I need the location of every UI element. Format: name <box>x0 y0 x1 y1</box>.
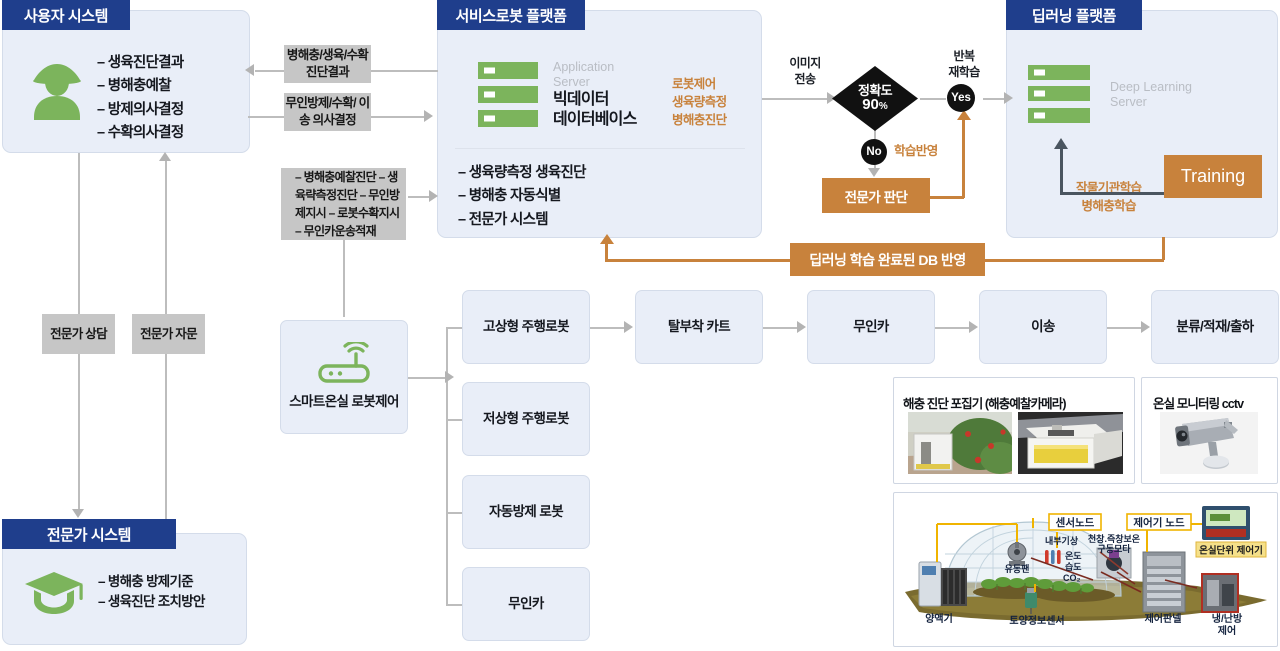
graduation-cap-icon <box>24 570 84 616</box>
security-camera-photo <box>1160 412 1258 474</box>
connector-training-to-server-v <box>1060 147 1063 194</box>
user-system-bullets: – 생육진단결과 – 병해충예찰 – 방제의사결정 – 수확의사결정 <box>97 52 184 146</box>
badge-yes: Yes <box>947 84 975 112</box>
robot-box-4[interactable]: 무인카 <box>462 567 590 641</box>
svg-text:습도: 습도 <box>1065 561 1082 572</box>
accuracy-label: 정확도 <box>858 84 892 98</box>
process-box-2[interactable]: 무인카 <box>807 290 935 364</box>
smart-greenhouse-illustration: 센서노드 제어기 노드 온실단위 제어기 내부기상 온도 습도 CO₂ 천창.즉… <box>897 496 1274 643</box>
connector-yes-to-dl <box>983 98 1006 100</box>
label-commands-list: – 병해충예찰진단 – 생육략측정진단 – 무인방제지시 – 로봇수확지시 – … <box>281 168 406 240</box>
arrow-up-to-dl-server <box>1054 138 1068 149</box>
wifi-router-icon <box>316 342 372 384</box>
connector-rail-to-robot-2 <box>446 419 462 421</box>
robot-box-3[interactable]: 자동방제 로봇 <box>462 475 590 549</box>
arrow-to-service-platform <box>424 110 433 122</box>
svg-text:냉/난방: 냉/난방 <box>1212 612 1243 625</box>
greenhouse-trap-photo <box>908 412 1012 474</box>
svg-text:CO₂: CO₂ <box>1063 573 1081 583</box>
connector-robot-column-rail <box>446 327 448 605</box>
svg-text:제어기 노드: 제어기 노드 <box>1133 516 1185 529</box>
connector-dl-to-dbbus-v <box>1162 237 1165 260</box>
process-box-1[interactable]: 탈부착 카트 <box>635 290 763 364</box>
connector-decision-to-platform <box>370 116 425 118</box>
arrow-down-to-expert-system <box>72 509 84 518</box>
svg-text:구동모타: 구동모타 <box>1097 543 1131 554</box>
arrow-up-to-user-system <box>159 152 171 161</box>
connector-flow-3 <box>935 327 970 329</box>
connector-judgement-feedback-h <box>930 196 964 199</box>
label-learning-reflect: 학습반영 <box>894 143 938 161</box>
label-expert-consult: 전문가 상담 <box>42 314 115 354</box>
svg-text:내부기상: 내부기상 <box>1045 535 1079 546</box>
label-diagnosis-result: 병해충/생육/수확 진단결과 <box>284 45 371 83</box>
smart-greenhouse-label: 스마트온실 로봇제어 <box>289 392 399 412</box>
svg-text:제어: 제어 <box>1218 624 1236 637</box>
arrow-flow-3 <box>969 321 978 333</box>
panel-title-deep-learning: 딥러닝 플랫폼 <box>1006 0 1142 30</box>
panel-deep-learning <box>1006 10 1278 238</box>
connector-commands-to-platform <box>408 196 430 198</box>
service-platform-tags: 로봇제어 생육량측정 병해충진단 <box>672 76 727 129</box>
robot-box-2[interactable]: 저상형 주행로봇 <box>462 382 590 456</box>
application-server-caption: Application Server <box>553 60 614 90</box>
connector-greenhouse-to-robots <box>408 377 446 379</box>
arrow-to-robot-column <box>445 371 454 383</box>
accuracy-value: 90% <box>862 97 888 113</box>
label-decision: 무인방제/수확/ 이송 의사결정 <box>284 93 371 131</box>
label-expert-advice: 전문가 자문 <box>132 314 205 354</box>
svg-text:토양정보센서: 토양정보센서 <box>1009 614 1064 627</box>
farmer-icon <box>32 60 82 122</box>
connector-judgement-feedback-v <box>962 119 965 198</box>
arrow-commands-to-platform <box>429 190 438 202</box>
panel-title-expert-system: 전문가 시스템 <box>2 519 176 549</box>
connector-diamond-to-yes <box>920 98 946 100</box>
arrow-db-to-service-platform <box>600 234 614 244</box>
connector-platform-to-diag <box>370 70 438 72</box>
arrow-flow-1 <box>624 321 633 333</box>
arrow-to-user-system <box>245 64 254 76</box>
deep-learning-server-caption: Deep Learning Server <box>1110 80 1192 110</box>
process-box-4[interactable]: 분류/적재/출하 <box>1151 290 1279 364</box>
panel-title-user-system: 사용자 시스템 <box>2 0 130 30</box>
robot-box-1[interactable]: 고상형 주행로봇 <box>462 290 590 364</box>
training-tags: 작물기관학습 병해충학습 <box>1076 180 1141 216</box>
arrow-flow-4 <box>1141 321 1150 333</box>
connector-flow-4 <box>1107 327 1142 329</box>
connector-flow-1 <box>590 327 625 329</box>
bigdata-database-name: 빅데이터 데이터베이스 <box>553 90 637 130</box>
connector-dbbus-to-platform-v <box>605 243 608 261</box>
yellow-sticky-trap-photo <box>1018 412 1123 474</box>
label-image-transfer: 이미지 전송 <box>779 56 831 87</box>
svg-text:온도: 온도 <box>1065 551 1082 561</box>
svg-text:온실단위 제어기: 온실단위 제어기 <box>1199 545 1263 557</box>
diagram-canvas: 사용자 시스템 – 생육진단결과 – 병해충예찰 – 방제의사결정 – 수확의사… <box>0 0 1280 651</box>
arrow-flow-2 <box>797 321 806 333</box>
service-panel-divider <box>455 148 745 149</box>
panel-title-service-robot: 서비스로봇 플랫폼 <box>437 0 585 30</box>
connector-rail-to-robot-1 <box>446 327 462 329</box>
connector-dbbus-left <box>605 259 790 262</box>
db-reflect-bar: 딥러닝 학습 완료된 DB 반영 <box>790 243 985 276</box>
service-platform-bullets: – 생육량측정 생육진단 – 병해충 자동식별 – 전문가 시스템 <box>458 162 586 232</box>
expert-system-bullets: – 병해충 방제기준 – 생육진단 조치방안 <box>98 572 205 613</box>
label-repeat-relearn: 반복 재학습 <box>938 49 990 80</box>
connector-user-to-decision <box>248 116 285 118</box>
connector-platform-to-diamond <box>762 98 830 100</box>
training-box: Training <box>1164 155 1262 198</box>
connector-dbbus-right <box>984 259 1164 262</box>
svg-text:유동팬: 유동팬 <box>1005 563 1030 574</box>
smart-greenhouse-control-box[interactable]: 스마트온실 로봇제어 <box>280 320 408 434</box>
svg-text:제어판넬: 제어판넬 <box>1145 612 1182 625</box>
connector-commands-to-greenhouse <box>343 239 345 317</box>
svg-text:센서노드: 센서노드 <box>1056 516 1095 529</box>
arrow-to-expert-judgement <box>868 168 880 177</box>
card-title-pest-trap: 해충 진단 포집기 (해충예찰카메라) <box>903 393 1066 412</box>
expert-judgement-box: 전문가 판단 <box>822 178 930 213</box>
connector-diag-to-user <box>255 70 285 72</box>
connector-training-to-server-h <box>1060 192 1165 195</box>
process-box-3[interactable]: 이송 <box>979 290 1107 364</box>
svg-text:천창.즉창보온: 천창.즉창보온 <box>1088 533 1140 544</box>
accuracy-decision-diamond: 정확도 90% <box>832 66 918 131</box>
card-title-cctv: 온실 모니터링 cctv <box>1153 393 1243 412</box>
svg-text:양액기: 양액기 <box>925 612 953 625</box>
server-icon-bigdata <box>478 62 538 127</box>
connector-rail-to-robot-4 <box>446 604 462 606</box>
badge-no: No <box>861 139 887 165</box>
server-icon-deeplearning <box>1028 65 1090 123</box>
arrow-to-dl-platform <box>1004 92 1013 104</box>
connector-rail-to-robot-3 <box>446 512 462 514</box>
connector-flow-2 <box>763 327 798 329</box>
